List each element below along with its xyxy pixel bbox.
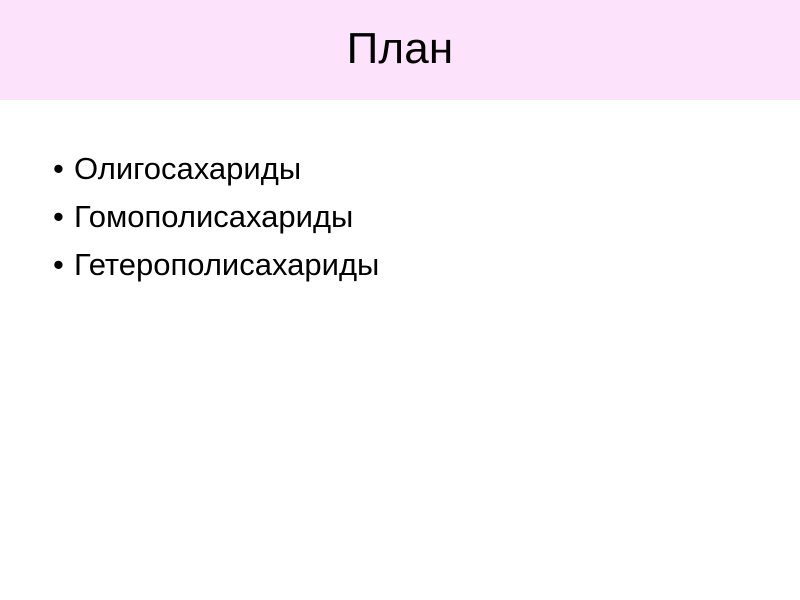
- list-item: • Олигосахариды: [53, 145, 753, 193]
- slide-body: • Олигосахариды • Гомополисахариды • Гет…: [0, 100, 800, 600]
- bullet-dot-icon: •: [53, 145, 74, 193]
- list-item-label: Гетерополисахариды: [74, 241, 379, 289]
- list-item-label: Гомополисахариды: [74, 193, 353, 241]
- title-banner: План: [0, 0, 800, 100]
- slide: План • Олигосахариды • Гомополисахариды …: [0, 0, 800, 600]
- bullet-dot-icon: •: [53, 241, 74, 289]
- list-item: • Гетерополисахариды: [53, 241, 753, 289]
- bullet-list: • Олигосахариды • Гомополисахариды • Гет…: [53, 145, 753, 289]
- bullet-dot-icon: •: [53, 193, 74, 241]
- list-item: • Гомополисахариды: [53, 193, 753, 241]
- list-item-label: Олигосахариды: [74, 145, 301, 193]
- page-title: План: [347, 27, 454, 71]
